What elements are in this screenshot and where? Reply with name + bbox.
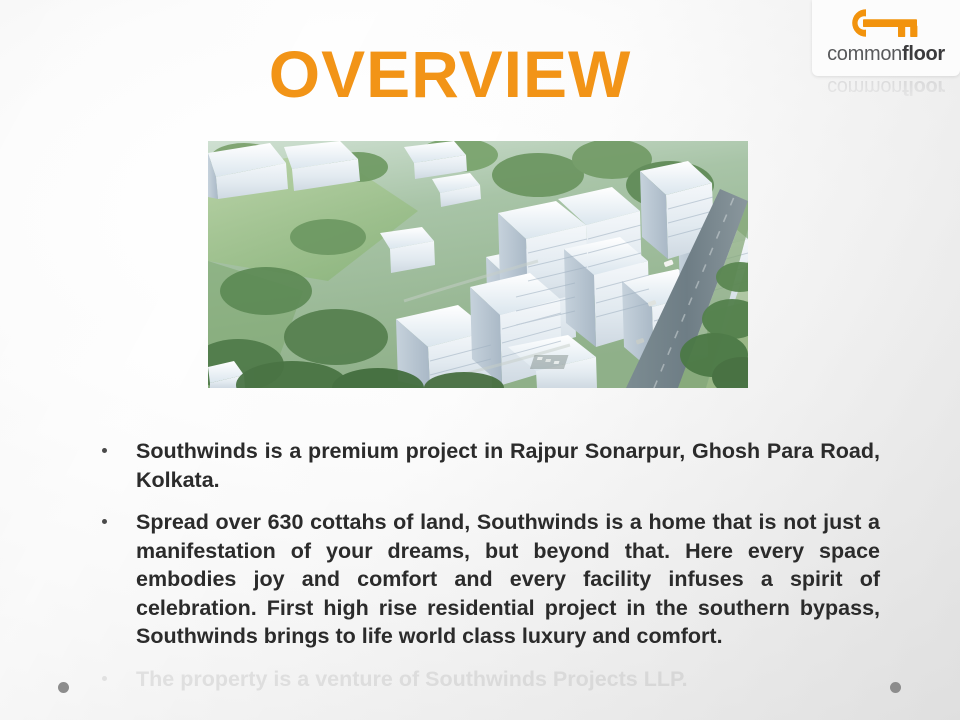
decorative-dot-left [58,682,69,693]
logo-reflection-word-common: common [827,76,902,98]
bullet-dot-icon [102,519,107,524]
bullet-list: Southwinds is a premium project in Rajpu… [100,437,880,693]
bullet-dot-icon [102,448,107,453]
decorative-dot-right [890,682,901,693]
list-item: Southwinds is a premium project in Rajpu… [100,437,880,494]
list-item: The property is a venture of Southwinds … [100,665,880,694]
list-item-text: Southwinds is a premium project in Rajpu… [136,439,880,492]
slide-canvas: commonfloor commonfloor OVERVIEW [0,0,960,720]
aerial-photo [208,141,748,388]
aerial-photo-graphic [208,141,748,388]
logo-word-common: common [827,43,902,65]
list-item-text: The property is a venture of Southwinds … [136,667,688,691]
key-icon [846,6,930,40]
logo-word-floor: floor [902,43,945,65]
logo-reflection-word-floor: floor [902,76,945,98]
logo-wordmark: commonfloor [812,43,960,66]
list-item: Spread over 630 cottahs of land, Southwi… [100,508,880,651]
commonfloor-logo[interactable]: commonfloor commonfloor [812,0,960,112]
logo-reflection: commonfloor [812,76,960,112]
page-title: OVERVIEW [0,36,900,112]
list-item-text: Spread over 630 cottahs of land, Southwi… [136,510,880,648]
bullet-dot-icon [102,676,107,681]
